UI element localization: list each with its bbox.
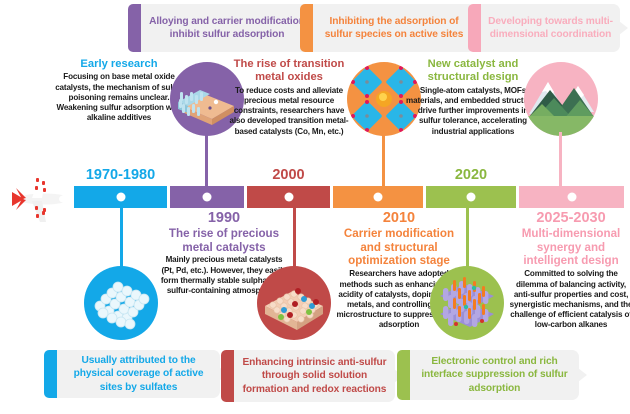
- entry-1970-1980: Early research Focusing on base metal ox…: [53, 58, 185, 123]
- callout-body: Inhibiting the adsorption of sulfur spec…: [313, 4, 475, 52]
- top-callout-2: Inhibiting the adsorption of sulfur spec…: [300, 4, 475, 52]
- timeline-segment-1970-1980[interactable]: [74, 186, 167, 208]
- timeline-dot: [567, 193, 576, 202]
- top-callout-3: Developing towards multi-dimensional coo…: [468, 4, 620, 52]
- callout-accent-bar: [128, 4, 141, 52]
- entry-title: Early research: [53, 58, 185, 71]
- entry-year: 2010: [334, 210, 464, 227]
- bottom-callout-1: Usually attributed to the physical cover…: [44, 350, 220, 398]
- entry-year: 2025-2030: [508, 210, 630, 227]
- entry-body: To reduce costs and alleviate precious m…: [228, 86, 350, 137]
- connector-stem-2000: [293, 208, 296, 268]
- callout-text: Developing towards multi-dimensional coo…: [487, 15, 614, 42]
- bottom-callout-2: Enhancing intrinsic anti-sulfur through …: [221, 350, 395, 402]
- callout-text: Inhibiting the adsorption of sulfur spec…: [319, 15, 469, 42]
- callout-accent-bar: [300, 4, 313, 52]
- callout-body: Enhancing intrinsic anti-sulfur through …: [234, 350, 395, 402]
- airplane-icon: [2, 168, 74, 230]
- connector-stem-2025: [559, 132, 562, 188]
- doped-surface-icon: [257, 266, 331, 340]
- entry-body: Focusing on base metal oxide catalysts, …: [53, 72, 185, 123]
- callout-text: Electronic control and rich interface su…: [416, 355, 573, 395]
- connector-stem-2010: [382, 132, 385, 188]
- timeline-dot: [284, 193, 293, 202]
- callout-accent-bar: [44, 350, 57, 398]
- connector-stem-1970: [120, 208, 123, 268]
- entry-2020: New catalyst and structural design Singl…: [406, 58, 540, 137]
- entry-title: Multi-dimensional synergy and intelligen…: [508, 227, 630, 269]
- timeline-segment-2010[interactable]: [333, 186, 423, 208]
- callout-body: Usually attributed to the physical cover…: [57, 350, 220, 398]
- timeline-segment-2020[interactable]: [426, 186, 516, 208]
- entry-2000: The rise of transition metal oxides To r…: [228, 58, 350, 137]
- callout-body: Electronic control and rich interface su…: [410, 350, 579, 400]
- infographic-canvas: Alloying and carrier modification inhibi…: [0, 0, 630, 414]
- pillared-structure-icon: [430, 266, 504, 340]
- entry-body: Single-atom catalysts, MOFs materials, a…: [406, 86, 540, 137]
- timeline-dot: [203, 193, 212, 202]
- timeline-segment-2025-2030[interactable]: [519, 186, 624, 208]
- timeline-year-1970-1980: 1970-1980: [74, 167, 167, 183]
- sphere-lattice-icon: [84, 266, 158, 340]
- mountain-icon: [524, 62, 598, 136]
- entry-year: 1990: [160, 210, 288, 227]
- connector-stem-1990: [205, 132, 208, 188]
- callout-accent-bar: [397, 350, 410, 400]
- callout-body: Developing towards multi-dimensional coo…: [481, 4, 620, 52]
- connector-stem-2020: [466, 208, 469, 268]
- timeline-dot: [116, 193, 125, 202]
- entry-body: Committed to solving the dilemma of bala…: [508, 269, 630, 330]
- callout-accent-bar: [468, 4, 481, 52]
- timeline-segment-2000[interactable]: [247, 186, 330, 208]
- callout-accent-bar: [221, 350, 234, 402]
- callout-arrow-icon: [578, 368, 587, 382]
- callout-text: Usually attributed to the physical cover…: [63, 354, 214, 394]
- timeline-year-2020: 2020: [426, 167, 516, 183]
- callout-text: Enhancing intrinsic anti-sulfur through …: [240, 356, 389, 396]
- callout-text: Alloying and carrier modification inhibi…: [147, 15, 307, 42]
- callout-body: Alloying and carrier modification inhibi…: [141, 4, 313, 52]
- timeline-year-2000: 2000: [247, 167, 330, 183]
- entry-title: New catalyst and structural design: [406, 58, 540, 85]
- timeline-dot: [374, 193, 383, 202]
- bottom-callout-3: Electronic control and rich interface su…: [397, 350, 579, 400]
- top-callout-1: Alloying and carrier modification inhibi…: [128, 4, 313, 52]
- callout-arrow-icon: [619, 21, 628, 35]
- entry-title: Carrier modification and structural opti…: [334, 227, 464, 269]
- timeline-dot: [467, 193, 476, 202]
- entry-2025-2030: 2025-2030 Multi-dimensional synergy and …: [508, 210, 630, 331]
- entry-title: The rise of precious metal catalysts: [160, 227, 288, 255]
- entry-title: The rise of transition metal oxides: [228, 58, 350, 85]
- timeline-segment-1990[interactable]: [170, 186, 244, 208]
